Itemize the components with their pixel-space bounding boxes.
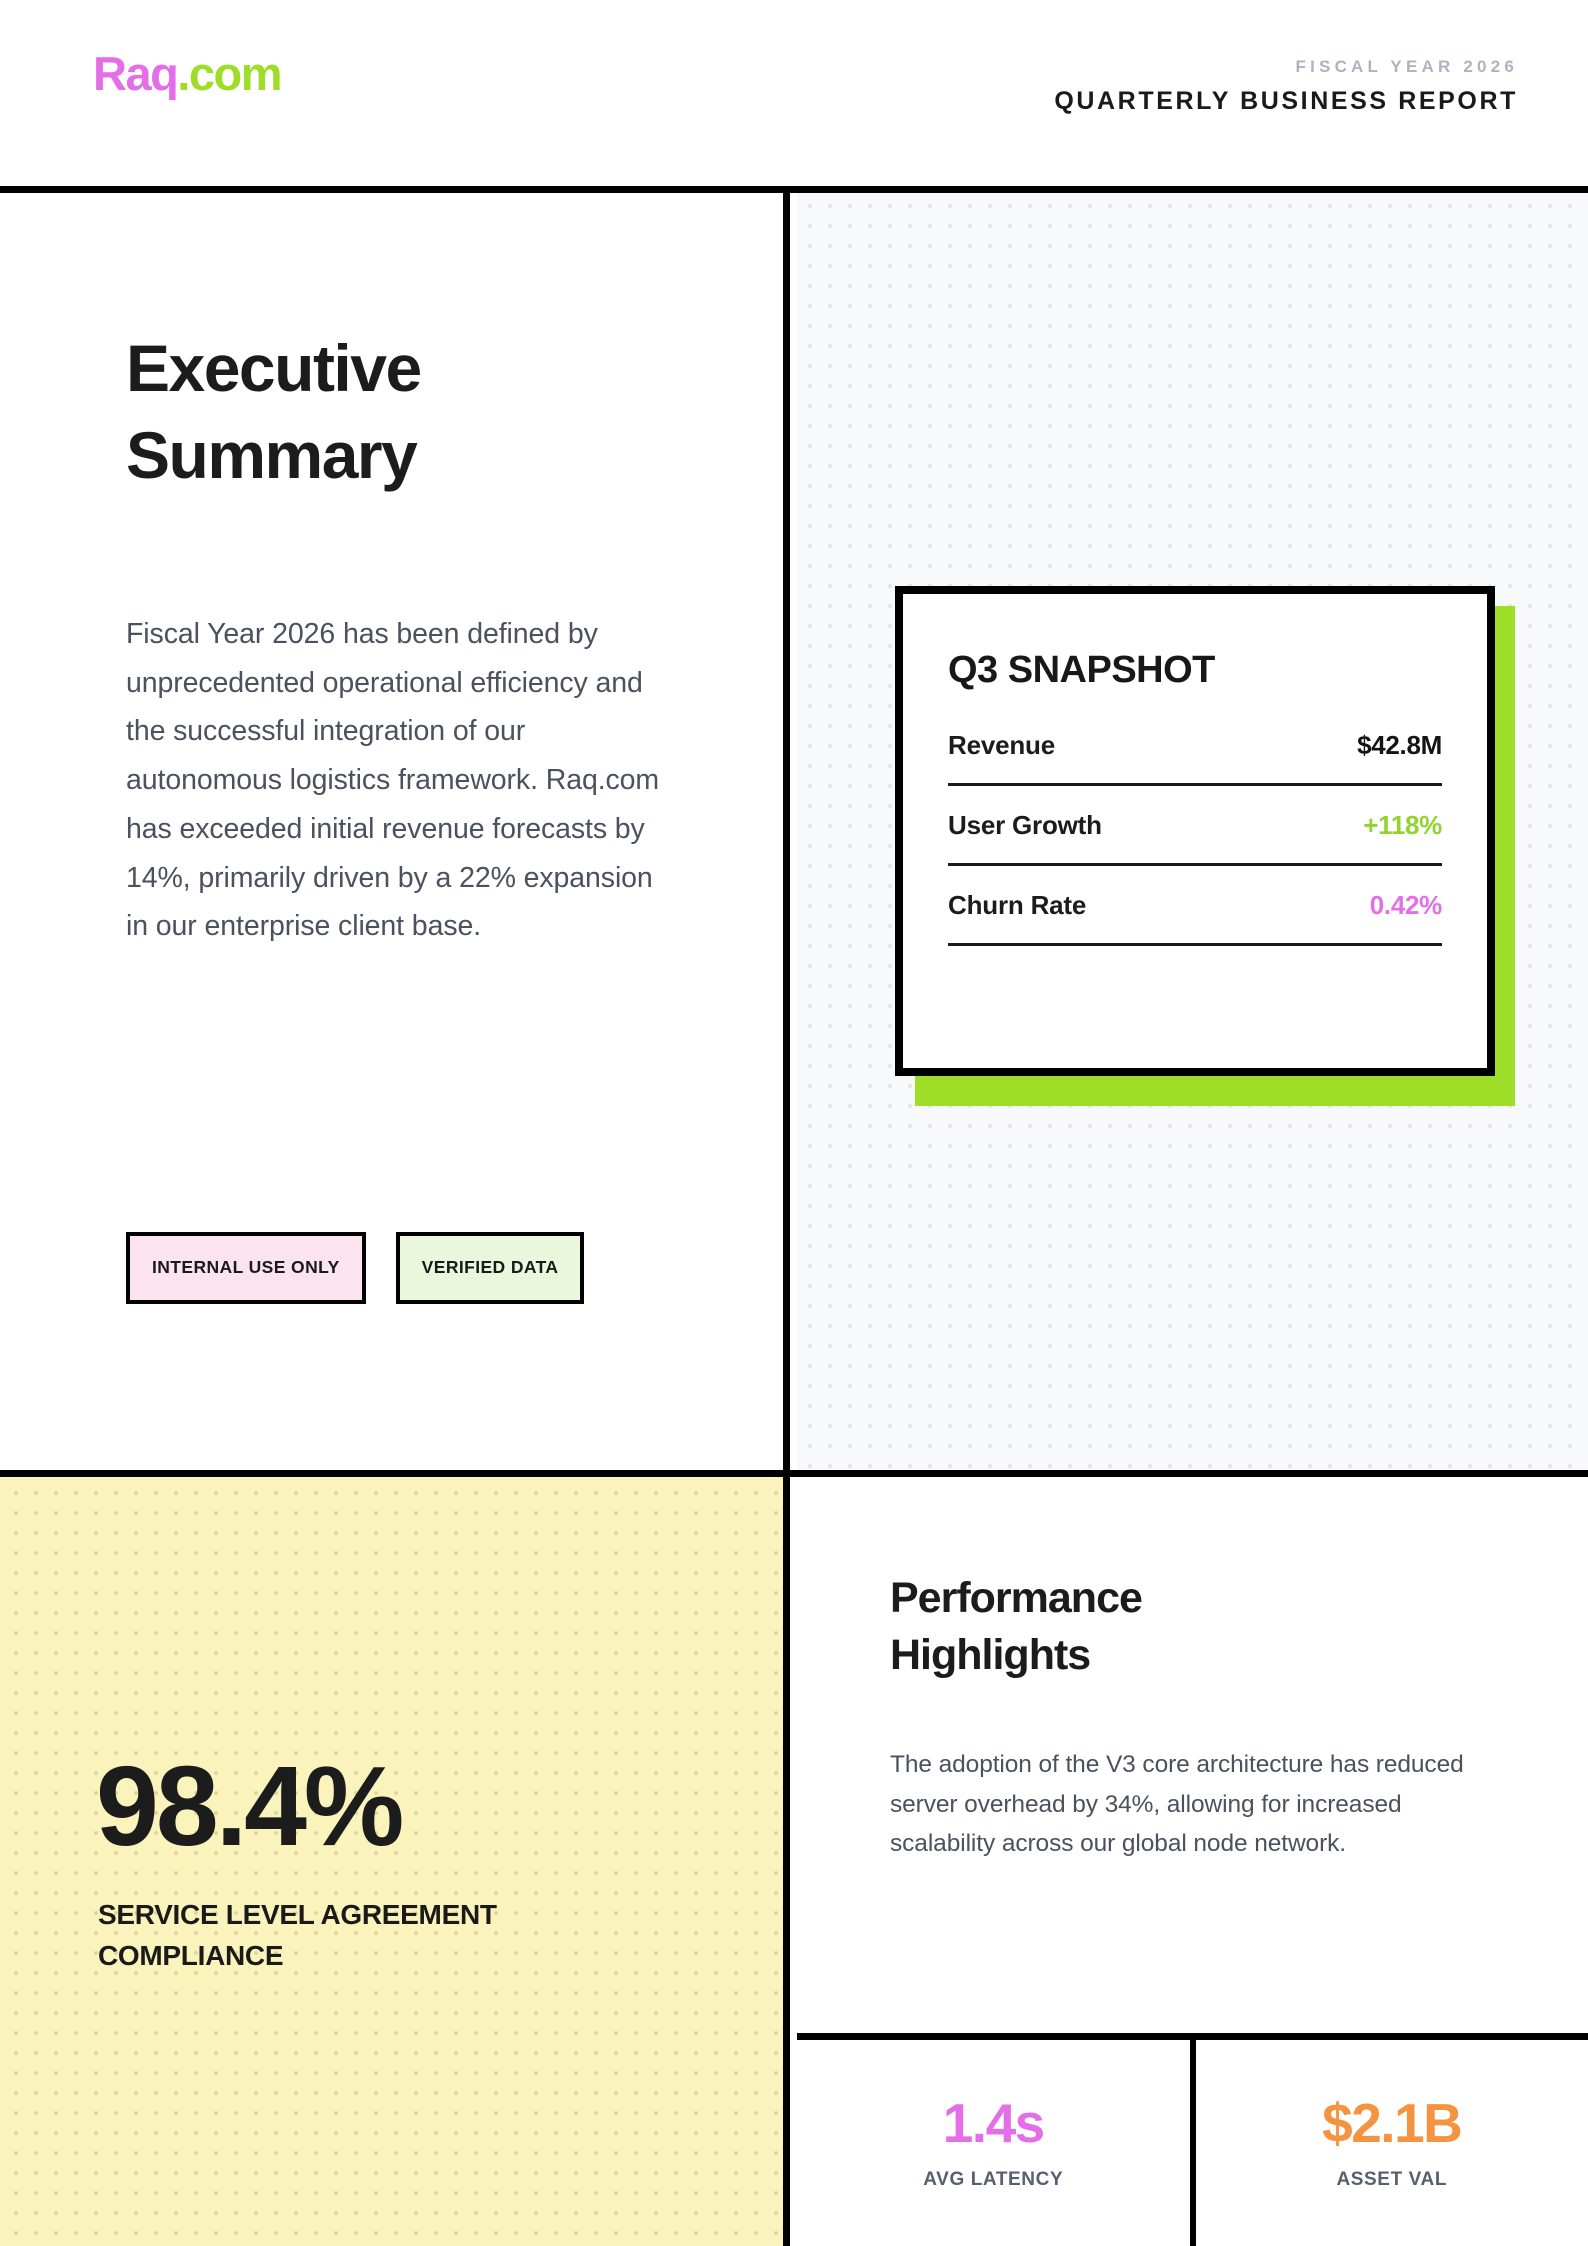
horizontal-divider [0, 1470, 1588, 1477]
header-titles: FISCAL YEAR 2026 QUARTERLY BUSINESS REPO… [1054, 58, 1518, 114]
stat-label-avg-latency: AVG LATENCY [923, 2169, 1063, 2191]
snapshot-title: Q3 SNAPSHOT [948, 649, 1442, 692]
report-title: QUARTERLY BUSINESS REPORT [1054, 89, 1518, 114]
snapshot-value-user-growth: +118% [1363, 810, 1442, 841]
snapshot-card-wrapper: Q3 SNAPSHOT Revenue $42.8M User Growth +… [895, 586, 1515, 1106]
snapshot-label-churn-rate: Churn Rate [948, 890, 1086, 921]
fiscal-year-label: FISCAL YEAR 2026 [1054, 58, 1518, 75]
performance-title: Performance Highlights [890, 1570, 1310, 1684]
performance-body: The adoption of the V3 core architecture… [890, 1745, 1470, 1864]
executive-summary-title: Executive Summary [126, 325, 596, 499]
stat-box-avg-latency: 1.4s AVG LATENCY [797, 2040, 1190, 2246]
page-header: Raq.com FISCAL YEAR 2026 QUARTERLY BUSIN… [0, 0, 1588, 193]
logo-text-primary: Raq [93, 47, 177, 100]
snapshot-row-churn-rate: Churn Rate 0.42% [948, 890, 1442, 946]
badge-group: INTERNAL USE ONLY VERIFIED DATA [126, 1232, 584, 1304]
snapshot-label-revenue: Revenue [948, 730, 1055, 761]
sla-label: SERVICE LEVEL AGREEMENT COMPLIANCE [98, 1895, 618, 1976]
report-page: Raq.com FISCAL YEAR 2026 QUARTERLY BUSIN… [0, 0, 1588, 2246]
executive-summary-body: Fiscal Year 2026 has been defined by unp… [126, 610, 666, 951]
stat-box-asset-val: $2.1B ASSET VAL [1190, 2040, 1588, 2246]
stat-bar: 1.4s AVG LATENCY $2.1B ASSET VAL [797, 2033, 1588, 2246]
badge-internal-use: INTERNAL USE ONLY [126, 1232, 366, 1304]
stat-label-asset-val: ASSET VAL [1336, 2169, 1447, 2191]
snapshot-row-revenue: Revenue $42.8M [948, 730, 1442, 786]
snapshot-label-user-growth: User Growth [948, 810, 1102, 841]
badge-verified-data: VERIFIED DATA [396, 1232, 585, 1304]
stat-value-asset-val: $2.1B [1322, 2096, 1461, 2151]
snapshot-value-revenue: $42.8M [1357, 730, 1442, 761]
sla-value: 98.4% [96, 1750, 401, 1863]
snapshot-card: Q3 SNAPSHOT Revenue $42.8M User Growth +… [895, 586, 1495, 1076]
logo-text-secondary: .com [177, 47, 281, 100]
snapshot-row-user-growth: User Growth +118% [948, 810, 1442, 866]
brand-logo[interactable]: Raq.com [93, 50, 281, 97]
stat-value-avg-latency: 1.4s [943, 2096, 1044, 2151]
snapshot-value-churn-rate: 0.42% [1370, 890, 1442, 921]
